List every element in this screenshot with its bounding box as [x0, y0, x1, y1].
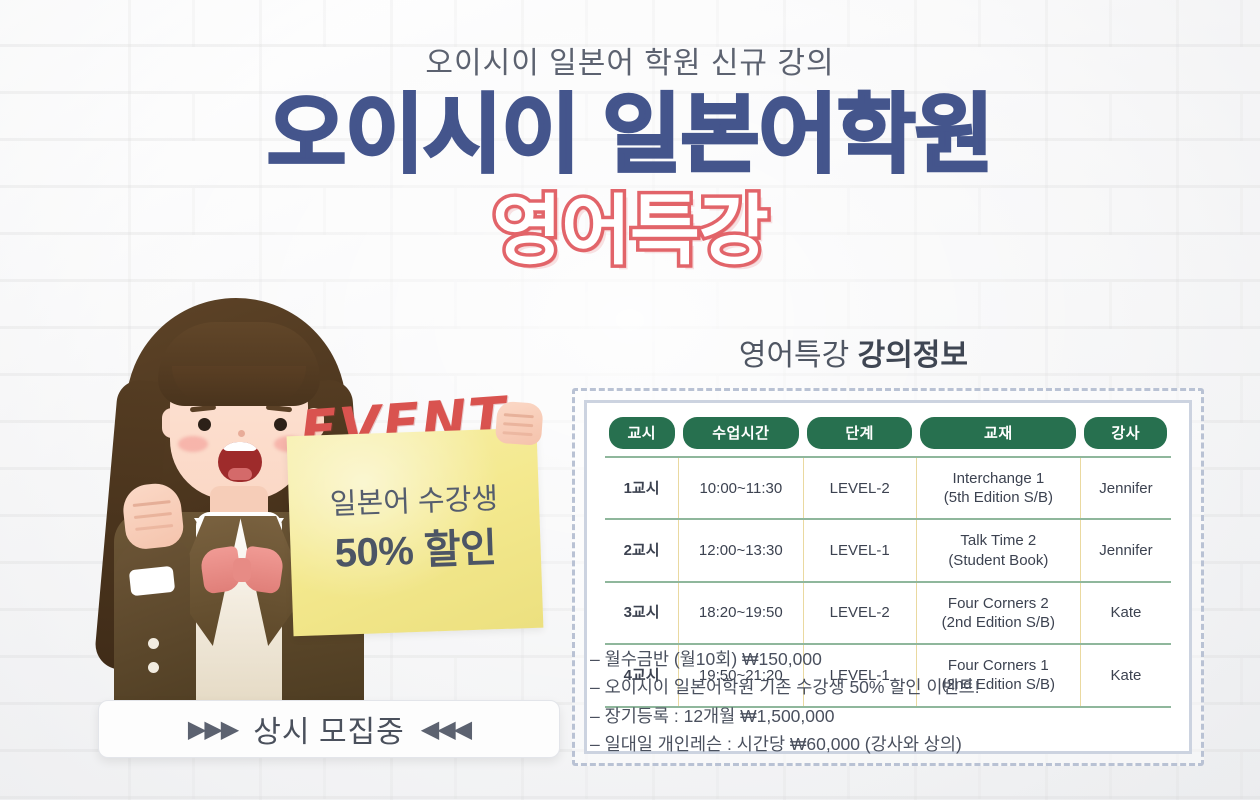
- column-header-teacher: 강사: [1080, 417, 1171, 457]
- blazer-button-top: [148, 638, 159, 649]
- nose: [238, 430, 245, 437]
- page-title: 오이시이 일본어학원: [0, 92, 1260, 178]
- table-head: 교시 수업시간 단계 교재 강사: [605, 417, 1171, 457]
- cell-book-title: Talk Time 2: [960, 532, 1036, 549]
- cell-book-sub: (Student Book): [919, 551, 1078, 570]
- discount-sign: 일본어 수강생 50% 할인: [287, 428, 544, 637]
- hand-holding-sign: [495, 401, 544, 446]
- course-info-heading: 영어특강 강의정보: [739, 330, 968, 374]
- arrows-left-pointing-icon: ◀◀◀: [421, 715, 470, 744]
- cell-book-sub: (5th Edition S/B): [919, 488, 1078, 507]
- column-header-level-pill: 단계: [807, 417, 912, 449]
- column-header-time-pill: 수업시간: [683, 417, 800, 449]
- arrows-right-pointing-icon: ▶▶▶: [188, 715, 237, 744]
- table-row: 3교시 18:20~19:50 LEVEL-2 Four Corners 2 (…: [605, 582, 1171, 644]
- pricing-note-item: – 오이시이 일본어학원 기존 수강생 50% 할인 이벤트!: [590, 673, 1190, 701]
- shirt-cuff: [129, 566, 175, 596]
- table-row: 2교시 12:00~13:30 LEVEL-1 Talk Time 2 (Stu…: [605, 519, 1171, 581]
- cell-book-title: Interchange 1: [952, 470, 1044, 487]
- pricing-notes-list: – 월수금반 (월10회) ₩150,000 – 오이시이 일본어학원 기존 수…: [590, 645, 1190, 758]
- cell-teacher: Jennifer: [1080, 519, 1171, 581]
- column-header-time: 수업시간: [679, 417, 804, 457]
- table-row: 1교시 10:00~11:30 LEVEL-2 Interchange 1 (5…: [605, 457, 1171, 519]
- eye-right: [274, 418, 287, 431]
- cell-time: 18:20~19:50: [679, 582, 804, 644]
- ribbon-bow-tie: [202, 548, 282, 592]
- course-info-heading-light: 영어특강: [739, 339, 858, 372]
- course-info-heading-bold: 강의정보: [858, 339, 968, 372]
- cell-level: LEVEL-2: [803, 457, 916, 519]
- cell-book: Four Corners 2 (2nd Edition S/B): [916, 582, 1080, 644]
- cell-book: Talk Time 2 (Student Book): [916, 519, 1080, 581]
- pricing-note-item: – 월수금반 (월10회) ₩150,000: [590, 645, 1190, 673]
- cell-level: LEVEL-2: [803, 582, 916, 644]
- enrollment-cta-bar[interactable]: ▶▶▶ 상시 모집중 ◀◀◀: [98, 700, 560, 758]
- eye-left: [198, 418, 211, 431]
- table-header-row: 교시 수업시간 단계 교재 강사: [605, 417, 1171, 457]
- blush-left: [178, 436, 208, 452]
- cell-teacher: Kate: [1080, 582, 1171, 644]
- column-header-teacher-pill: 강사: [1084, 417, 1167, 449]
- column-header-book: 교재: [916, 417, 1080, 457]
- blazer-button-bottom: [148, 662, 159, 673]
- cell-book-sub: (2nd Edition S/B): [919, 613, 1078, 632]
- cell-book: Interchange 1 (5th Edition S/B): [916, 457, 1080, 519]
- hair-bangs: [158, 322, 320, 406]
- promo-banner: 오이시이 일본어 학원 신규 강의 오이시이 일본어학원 영어특강: [0, 0, 1260, 800]
- cell-teacher: Jennifer: [1080, 457, 1171, 519]
- cell-time: 12:00~13:30: [679, 519, 804, 581]
- column-header-book-pill: 교재: [920, 417, 1076, 449]
- bow-knot: [233, 558, 251, 582]
- cell-period: 2교시: [605, 519, 679, 581]
- page-subtitle: 영어특강: [0, 194, 1260, 270]
- pricing-note-item: – 장기등록 : 12개월 ₩1,500,000: [590, 702, 1190, 730]
- column-header-level: 단계: [803, 417, 916, 457]
- cell-level: LEVEL-1: [803, 519, 916, 581]
- column-header-period-pill: 교시: [609, 417, 675, 449]
- cell-book-title: Four Corners 2: [948, 595, 1049, 612]
- cell-time: 10:00~11:30: [679, 457, 804, 519]
- mouth-smiling: [218, 442, 262, 482]
- cell-period: 1교시: [605, 457, 679, 519]
- eyebrow-text: 오이시이 일본어 학원 신규 강의: [0, 38, 1260, 82]
- discount-sign-line-2: 50% 할인: [290, 514, 542, 581]
- column-header-period: 교시: [605, 417, 679, 457]
- pricing-note-item: – 일대일 개인레슨 : 시간당 ₩60,000 (강사와 상의): [590, 730, 1190, 758]
- cell-period: 3교시: [605, 582, 679, 644]
- cta-label: 상시 모집중: [253, 707, 405, 751]
- arm-left: [114, 540, 190, 710]
